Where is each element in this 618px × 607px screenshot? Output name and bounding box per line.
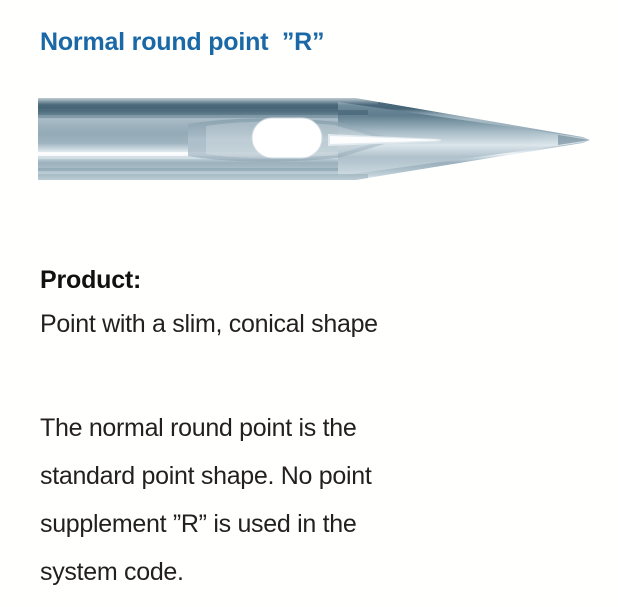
description-paragraph: The normal round point is the standard p… <box>40 404 580 596</box>
paragraph-line: The normal round point is the <box>40 404 580 452</box>
paragraph-line: supplement ”R” is used in the <box>40 500 580 548</box>
page-title: Normal round point ”R” <box>40 25 324 59</box>
page-root: Normal round point ”R” <box>0 0 618 607</box>
needle-figure <box>38 96 590 182</box>
needle-eye <box>252 118 322 158</box>
paragraph-line: standard point shape. No point <box>40 452 580 500</box>
needle-illustration <box>38 96 590 182</box>
product-description: Point with a slim, conical shape <box>40 306 378 342</box>
paragraph-line: system code. <box>40 548 580 596</box>
product-label: Product: <box>40 264 141 296</box>
